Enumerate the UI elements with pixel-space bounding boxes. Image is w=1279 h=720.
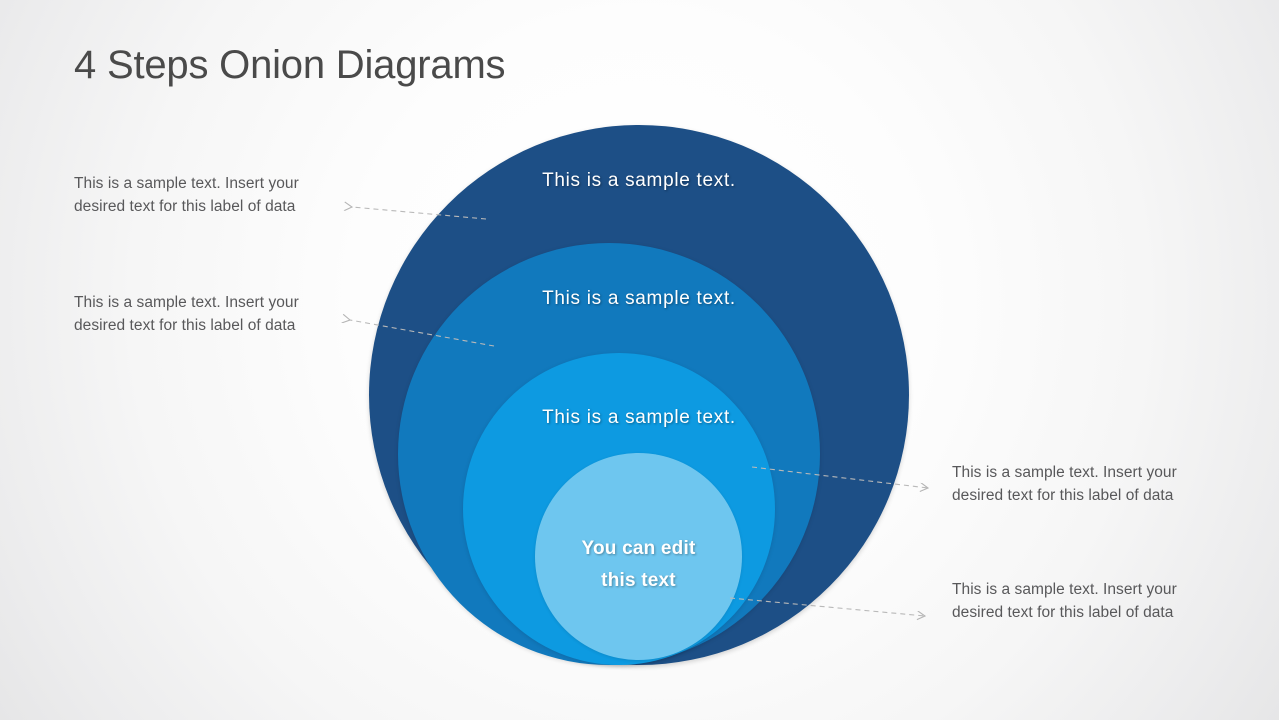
slide-canvas: 4 Steps Onion Diagrams This is a sample …	[0, 0, 1279, 720]
label-layer-2[interactable]: This is a sample text. Insert your desir…	[74, 291, 329, 337]
label-layer-3[interactable]: This is a sample text. Insert your desir…	[952, 461, 1214, 507]
page-title: 4 Steps Onion Diagrams	[74, 43, 505, 88]
onion-layer-4-core[interactable]	[535, 453, 742, 660]
label-layer-1[interactable]: This is a sample text. Insert your desir…	[74, 172, 329, 218]
label-layer-4[interactable]: This is a sample text. Insert your desir…	[952, 578, 1214, 624]
